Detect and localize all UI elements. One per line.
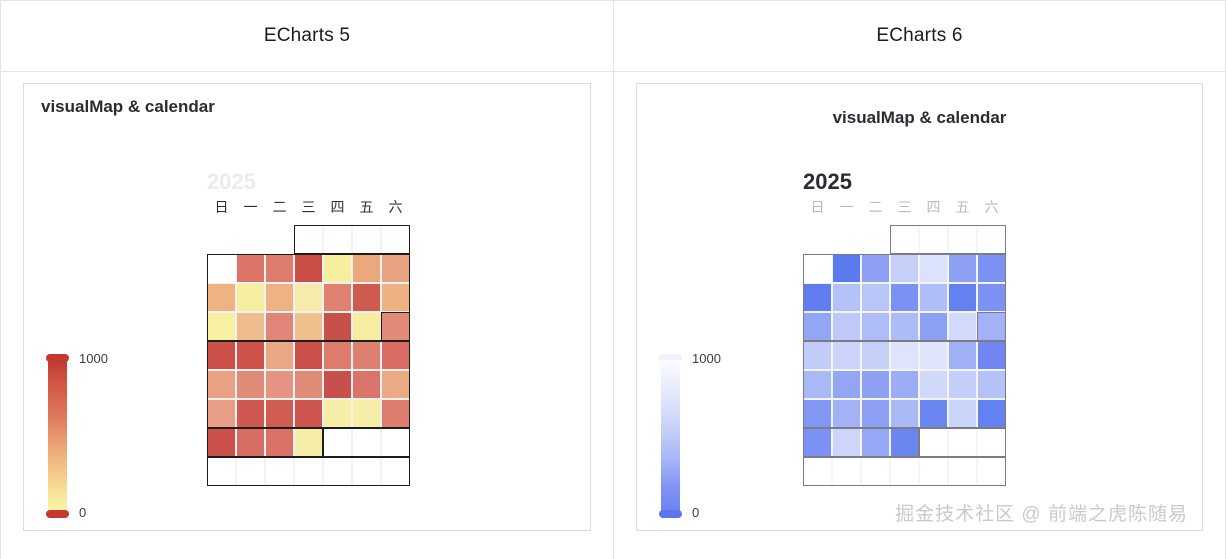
calendar-day-cell[interactable] <box>977 399 1006 428</box>
calendar-day-cell[interactable] <box>207 428 236 457</box>
calendar-day-cell[interactable] <box>207 283 236 312</box>
calendar-day-cell[interactable] <box>948 225 977 254</box>
calendar-weekday-2: 二 <box>861 197 890 217</box>
visual-map-min-label: 0 <box>692 505 699 520</box>
calendar-day-cell[interactable] <box>890 370 919 399</box>
calendar-day-cell[interactable] <box>977 428 1006 457</box>
calendar-weekday-4: 四 <box>323 197 352 217</box>
panel-body-echarts5: visualMap & calendar 1000 0 2025 日一二三四五六… <box>1 72 613 559</box>
calendar-day-cell[interactable] <box>352 457 381 486</box>
calendar-day-cell[interactable] <box>832 457 861 486</box>
calendar-day-cell[interactable] <box>323 428 352 457</box>
calendar-day-cell[interactable] <box>948 341 977 370</box>
calendar-day-cell[interactable] <box>948 370 977 399</box>
calendar-day-cell[interactable] <box>890 341 919 370</box>
calendar-day-cell[interactable] <box>948 399 977 428</box>
calendar-day-cell[interactable] <box>948 312 977 341</box>
calendar-day-cell[interactable] <box>265 428 294 457</box>
calendar-day-cell[interactable] <box>948 457 977 486</box>
calendar-day-cell[interactable] <box>977 370 1006 399</box>
calendar-day-cell[interactable] <box>381 457 410 486</box>
calendar-day-cell[interactable] <box>890 399 919 428</box>
calendar-day-cell[interactable] <box>977 312 1006 341</box>
calendar-day-cell[interactable] <box>352 370 381 399</box>
calendar-weekday-5: 五 <box>948 197 977 217</box>
visual-map-handle-min[interactable] <box>659 510 682 518</box>
calendar-day-cell[interactable] <box>236 370 265 399</box>
calendar-day-cell[interactable] <box>919 254 948 283</box>
panel-echarts6: ECharts 6 visualMap & calendar 1000 0 20… <box>613 0 1226 559</box>
calendar-weekday-1: 一 <box>236 197 265 217</box>
calendar-day-cell[interactable] <box>919 225 948 254</box>
calendar-day-cell[interactable] <box>890 457 919 486</box>
calendar-day-cell[interactable] <box>265 370 294 399</box>
calendar-day-cell[interactable] <box>890 312 919 341</box>
calendar-day-cell[interactable] <box>381 254 410 283</box>
watermark-text: 掘金技术社区 @ 前端之虎陈随易 <box>895 499 1188 526</box>
calendar-day-cell[interactable] <box>207 312 236 341</box>
calendar-day-cell[interactable] <box>323 283 352 312</box>
calendar-day-cell[interactable] <box>323 457 352 486</box>
calendar-day-cell[interactable] <box>352 254 381 283</box>
calendar-day-cell[interactable] <box>861 399 890 428</box>
calendar-day-cell[interactable] <box>832 312 861 341</box>
panel-header-echarts5: ECharts 5 <box>1 0 613 72</box>
calendar-day-cell[interactable] <box>832 341 861 370</box>
calendar-day-cell[interactable] <box>381 312 410 341</box>
visual-map-max-label: 1000 <box>692 351 721 366</box>
calendar-day-cell[interactable] <box>832 370 861 399</box>
calendar-day-cell[interactable] <box>294 457 323 486</box>
calendar-day-cell[interactable] <box>890 428 919 457</box>
calendar-day-cell[interactable] <box>294 399 323 428</box>
chart-title-echarts5: visualMap & calendar <box>41 97 215 117</box>
calendar-day-cell[interactable] <box>832 283 861 312</box>
calendar-day-cell[interactable] <box>861 457 890 486</box>
calendar-weekday-2: 二 <box>265 197 294 217</box>
calendar-day-cell[interactable] <box>977 341 1006 370</box>
calendar-day-cell[interactable] <box>207 370 236 399</box>
calendar-day-cell[interactable] <box>294 283 323 312</box>
calendar-day-cell[interactable] <box>861 283 890 312</box>
calendar-day-cell[interactable] <box>977 457 1006 486</box>
calendar-day-cell[interactable] <box>207 457 236 486</box>
calendar-day-cell[interactable] <box>919 283 948 312</box>
calendar-day-cell[interactable] <box>919 428 948 457</box>
calendar-day-cell[interactable] <box>803 283 832 312</box>
calendar-weekday-5: 五 <box>352 197 381 217</box>
calendar-day-cell[interactable] <box>323 225 352 254</box>
visual-map-max-label: 1000 <box>79 351 108 366</box>
calendar-day-cell[interactable] <box>919 370 948 399</box>
calendar-weekday-3: 三 <box>294 197 323 217</box>
visual-map-gradient-bar[interactable] <box>661 360 680 512</box>
visual-map-gradient-bar[interactable] <box>48 360 67 512</box>
calendar-day-cell[interactable] <box>236 254 265 283</box>
calendar-day-cell[interactable] <box>890 254 919 283</box>
calendar-day-cell[interactable] <box>265 312 294 341</box>
calendar-day-cell[interactable] <box>919 341 948 370</box>
calendar-day-cell[interactable] <box>832 254 861 283</box>
calendar-day-cell[interactable] <box>294 341 323 370</box>
calendar-day-cell[interactable] <box>294 370 323 399</box>
calendar-day-cell[interactable] <box>861 312 890 341</box>
calendar-day-cell[interactable] <box>265 399 294 428</box>
panel-title-echarts6: ECharts 6 <box>876 25 962 47</box>
calendar-day-cell[interactable] <box>294 312 323 341</box>
calendar-weekday-header-echarts5: 日一二三四五六 <box>207 197 410 217</box>
calendar-day-cell[interactable] <box>323 370 352 399</box>
calendar-weekday-4: 四 <box>919 197 948 217</box>
calendar-weekday-1: 一 <box>832 197 861 217</box>
calendar-day-cell[interactable] <box>381 370 410 399</box>
calendar-day-cell[interactable] <box>861 370 890 399</box>
calendar-day-cell[interactable] <box>352 283 381 312</box>
calendar-day-cell[interactable] <box>948 428 977 457</box>
calendar-day-cell[interactable] <box>352 341 381 370</box>
calendar-day-cell[interactable] <box>352 312 381 341</box>
calendar-weekday-header-echarts6: 日一二三四五六 <box>803 197 1006 217</box>
visual-map-min-label: 0 <box>79 505 86 520</box>
calendar-day-cell[interactable] <box>381 225 410 254</box>
calendar-day-cell[interactable] <box>919 399 948 428</box>
calendar-day-cell[interactable] <box>948 283 977 312</box>
calendar-day-cell[interactable] <box>381 399 410 428</box>
calendar-day-cell[interactable] <box>352 399 381 428</box>
calendar-day-cell[interactable] <box>977 283 1006 312</box>
comparison-root: ECharts 5 visualMap & calendar 1000 0 20… <box>0 0 1226 559</box>
calendar-day-cell[interactable] <box>265 283 294 312</box>
visual-map-handle-min[interactable] <box>46 510 69 518</box>
calendar-day-cell[interactable] <box>381 283 410 312</box>
calendar-day-cell[interactable] <box>323 254 352 283</box>
calendar-day-cell[interactable] <box>236 428 265 457</box>
chart-card-echarts5: visualMap & calendar 1000 0 2025 日一二三四五六… <box>23 83 591 531</box>
calendar-day-cell[interactable] <box>352 225 381 254</box>
calendar-weekday-3: 三 <box>890 197 919 217</box>
calendar-day-cell[interactable] <box>803 428 832 457</box>
calendar-day-cell[interactable] <box>265 254 294 283</box>
calendar-day-cell[interactable] <box>294 254 323 283</box>
calendar-day-cell[interactable] <box>890 225 919 254</box>
calendar-day-cell[interactable] <box>861 428 890 457</box>
calendar-day-cell[interactable] <box>236 283 265 312</box>
calendar-day-cell[interactable] <box>323 312 352 341</box>
calendar-day-cell[interactable] <box>977 225 1006 254</box>
calendar-day-cell[interactable] <box>207 341 236 370</box>
calendar-day-cell[interactable] <box>294 225 323 254</box>
calendar-day-cell[interactable] <box>207 399 236 428</box>
calendar-day-cell[interactable] <box>803 399 832 428</box>
calendar-weekday-6: 六 <box>381 197 410 217</box>
calendar-day-cell[interactable] <box>236 457 265 486</box>
calendar-day-cell[interactable] <box>381 428 410 457</box>
calendar-weekday-6: 六 <box>977 197 1006 217</box>
calendar-day-cell[interactable] <box>948 254 977 283</box>
calendar-day-cell[interactable] <box>832 428 861 457</box>
calendar-day-cell[interactable] <box>832 399 861 428</box>
calendar-day-cell[interactable] <box>323 399 352 428</box>
calendar-day-cell[interactable] <box>803 312 832 341</box>
calendar-day-cell[interactable] <box>236 341 265 370</box>
calendar-day-cell[interactable] <box>265 457 294 486</box>
panel-title-echarts5: ECharts 5 <box>264 25 350 47</box>
calendar-day-cell[interactable] <box>919 457 948 486</box>
calendar-weekday-0: 日 <box>803 197 832 217</box>
calendar-day-cell[interactable] <box>977 254 1006 283</box>
chart-title-echarts6: visualMap & calendar <box>637 108 1202 128</box>
calendar-day-cell[interactable] <box>323 341 352 370</box>
calendar-day-cell[interactable] <box>294 428 323 457</box>
panel-echarts5: ECharts 5 visualMap & calendar 1000 0 20… <box>0 0 613 559</box>
calendar-day-cell[interactable] <box>381 341 410 370</box>
calendar-day-cell[interactable] <box>861 254 890 283</box>
calendar-day-cell[interactable] <box>803 370 832 399</box>
calendar-day-cell[interactable] <box>236 399 265 428</box>
calendar-day-cell[interactable] <box>352 428 381 457</box>
calendar-day-cell[interactable] <box>890 283 919 312</box>
calendar-day-cell[interactable] <box>236 312 265 341</box>
panel-header-echarts6: ECharts 6 <box>614 0 1225 72</box>
calendar-day-cell[interactable] <box>861 341 890 370</box>
calendar-weekday-0: 日 <box>207 197 236 217</box>
panel-body-echarts6: visualMap & calendar 1000 0 2025 日一二三四五六… <box>614 72 1225 559</box>
calendar-day-cell[interactable] <box>803 341 832 370</box>
calendar-day-cell[interactable] <box>919 312 948 341</box>
chart-card-echarts6: visualMap & calendar 1000 0 2025 日一二三四五六… <box>636 83 1203 531</box>
calendar-day-cell[interactable] <box>803 457 832 486</box>
calendar-day-cell[interactable] <box>265 341 294 370</box>
